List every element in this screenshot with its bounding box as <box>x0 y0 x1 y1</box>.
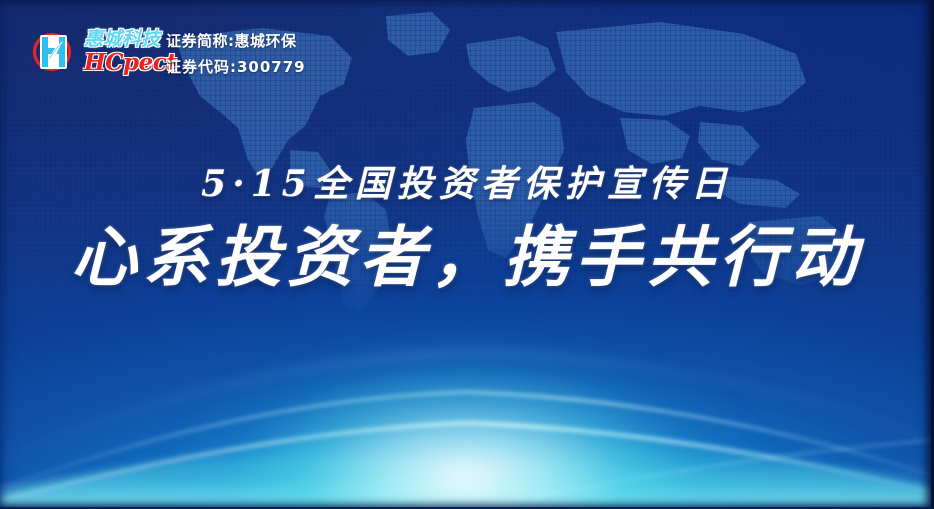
hcpect-emblem-icon <box>30 28 76 76</box>
investor-protection-banner: 惠城科技 HCpect 证券简称:惠城环保 证券代码:300779 5·15全国… <box>0 0 934 509</box>
stock-code: 证券代码:300779 <box>166 56 306 77</box>
headline-block: 5·15全国投资者保护宣传日 心系投资者，携手共行动 <box>0 155 934 292</box>
stock-short-name: 证券简称:惠城环保 <box>166 30 306 51</box>
brand-name-cn: 惠城科技 <box>84 30 176 49</box>
stock-info-block: 证券简称:惠城环保 证券代码:300779 <box>166 30 306 77</box>
company-logo: 惠城科技 HCpect <box>30 28 176 76</box>
headline-line-2: 心系投资者，携手共行动 <box>0 223 934 292</box>
brand-names: 惠城科技 HCpect <box>84 30 176 74</box>
headline-line-1: 5·15全国投资者保护宣传日 <box>0 155 934 207</box>
brand-name-en: HCpect <box>84 51 176 74</box>
